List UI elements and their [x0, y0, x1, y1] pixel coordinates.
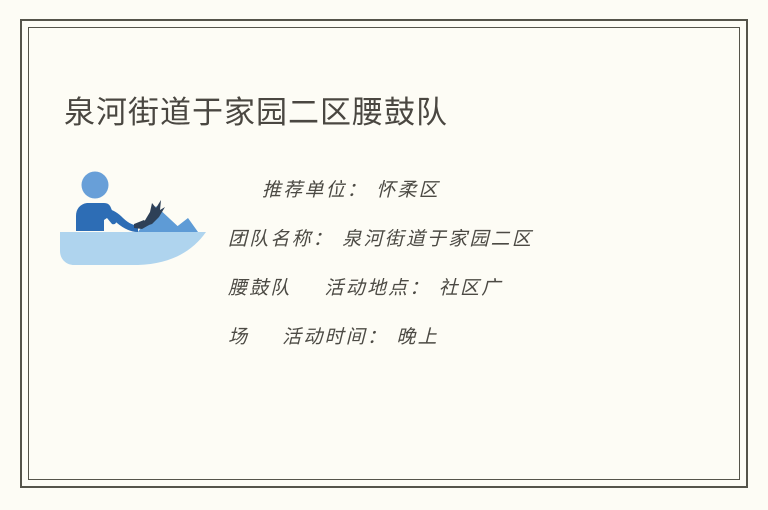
page-title: 泉河街道于家园二区腰鼓队: [64, 91, 448, 135]
team-info-card: 泉河街道于家园二区腰鼓队 推荐单位： 怀柔区 团队名称： 泉河街道于家园二区 腰…: [0, 0, 768, 510]
team-details-block: 推荐单位： 怀柔区 团队名称： 泉河街道于家园二区 腰鼓队 活动地点： 社区广 …: [228, 166, 648, 362]
detail-line-activity-location: 腰鼓队 活动地点： 社区广: [228, 264, 648, 313]
person-in-boat-illustration: [60, 168, 206, 270]
detail-line-activity-time: 场 活动时间： 晚上: [228, 313, 648, 362]
detail-line-team-name: 团队名称： 泉河街道于家园二区: [228, 215, 648, 264]
detail-line-recommending-unit: 推荐单位： 怀柔区: [228, 166, 648, 215]
